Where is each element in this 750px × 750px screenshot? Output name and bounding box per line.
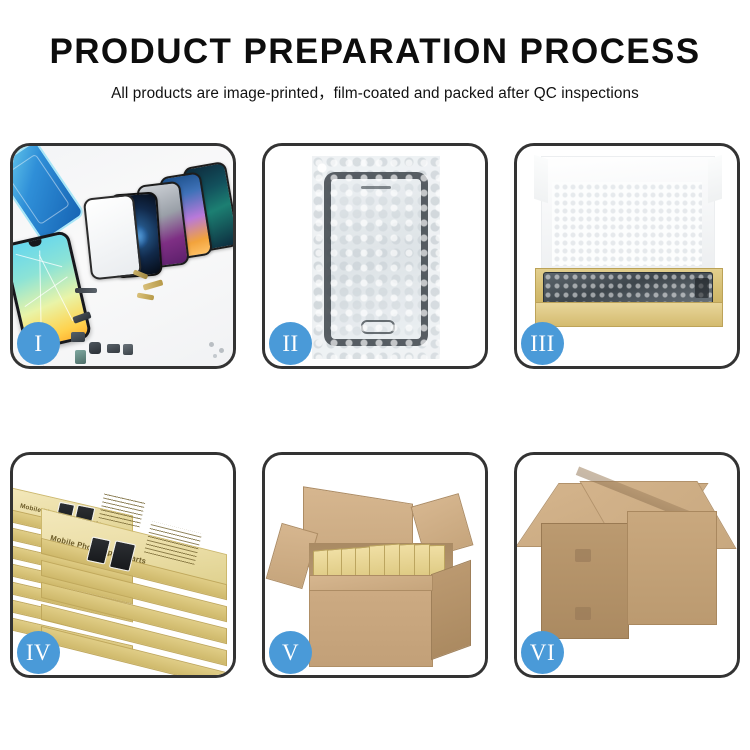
process-step-panel-4: Mobile Phone Spare Parts Mobile Phone Sp…	[10, 452, 236, 678]
screw-3	[213, 354, 217, 358]
process-step-panel-5: V	[262, 452, 488, 678]
carton-handle-hole-top	[575, 549, 591, 562]
packed-screen-item	[543, 272, 713, 305]
connector-part-1	[75, 288, 97, 293]
small-component-3	[89, 342, 101, 354]
panel-5-numeral-badge: V	[269, 631, 312, 674]
foam-padding-sheet	[552, 182, 702, 266]
phone-mockup-1	[83, 194, 142, 281]
home-button-icon	[361, 320, 395, 334]
battery-part-icon	[75, 350, 86, 364]
process-step-panel-6: VI	[514, 452, 740, 678]
carton-front-face	[309, 583, 433, 667]
screw-2	[219, 348, 224, 353]
page-subtitle: All products are image-printed，film-coat…	[0, 81, 750, 103]
page-header: PRODUCT PREPARATION PROCESS All products…	[0, 0, 750, 103]
crack-line-2	[25, 276, 68, 307]
bubble-wrap-sheet	[312, 156, 440, 359]
carton-right-face	[627, 511, 717, 625]
carton-front-flap-edge	[309, 575, 433, 591]
phone-screen-outline	[324, 172, 428, 346]
process-step-panel-3: III	[514, 143, 740, 369]
kraft-box-front-wall	[535, 302, 723, 327]
small-component-2	[71, 332, 85, 342]
earpiece-speaker-icon	[361, 186, 391, 189]
small-component-4	[107, 344, 120, 353]
screw-1	[209, 342, 214, 347]
carton-handle-hole-bottom	[575, 607, 591, 620]
panel-3-numeral-badge: III	[521, 322, 564, 365]
panel-4-numeral-badge: IV	[17, 631, 60, 674]
carton-right-face	[431, 560, 471, 661]
page-title: PRODUCT PREPARATION PROCESS	[0, 34, 750, 71]
panel-1-numeral-badge: I	[17, 322, 60, 365]
small-component-5	[123, 344, 133, 355]
carton-left-face	[541, 523, 629, 639]
panel-6-numeral-badge: VI	[521, 631, 564, 674]
process-step-panel-2: II	[262, 143, 488, 369]
panel-2-numeral-badge: II	[269, 322, 312, 365]
process-step-panel-1: I	[10, 143, 236, 369]
crack-line-3	[39, 250, 41, 332]
process-panel-grid: I II III	[10, 143, 740, 678]
